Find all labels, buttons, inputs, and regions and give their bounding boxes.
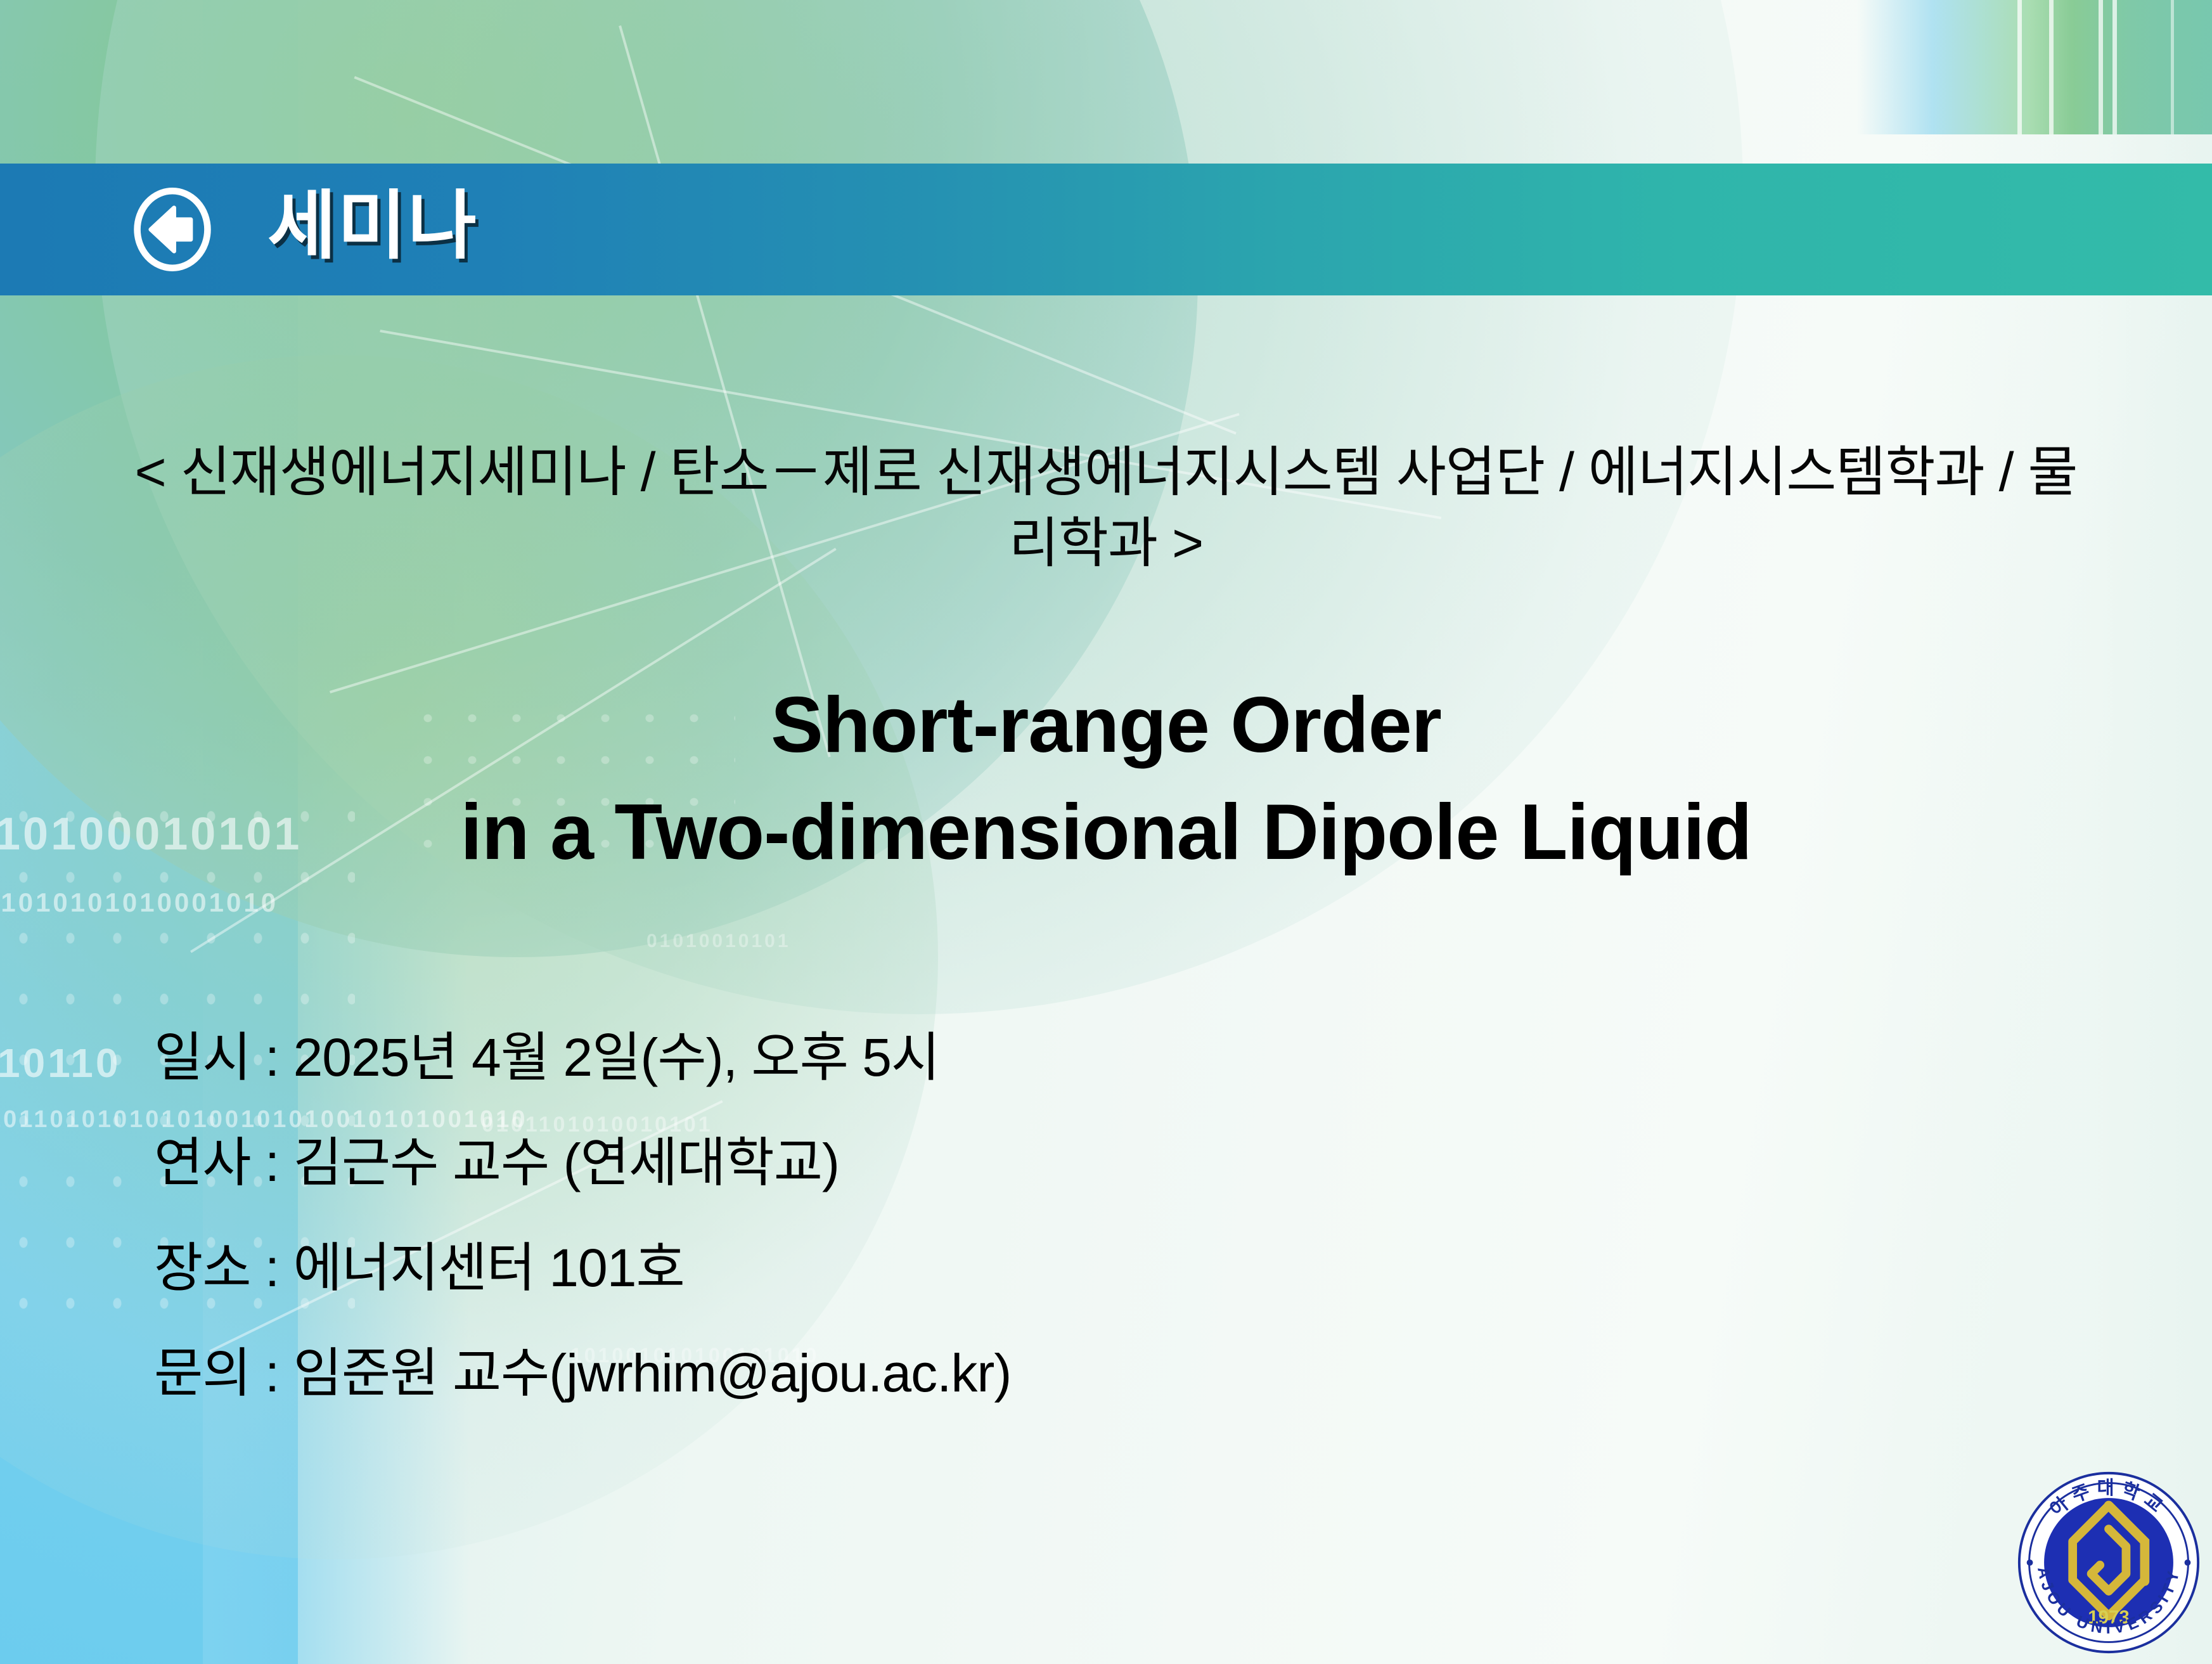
back-arrow-circle-icon[interactable] bbox=[131, 188, 214, 271]
seminar-poster-slide: 10100010101 01010101010001010 10110 1011… bbox=[0, 0, 2212, 1664]
content-area: < 신재생에너지세미나 / 탄소－제로 신재생에너지시스템 사업단 / 에너지시… bbox=[0, 295, 2212, 1664]
detail-line-datetime: 일시 : 2025년 4월 2일(수), 오후 5시 bbox=[154, 1031, 1992, 1084]
background-band-line bbox=[2049, 0, 2054, 134]
seminar-details-list: 일시 : 2025년 4월 2일(수), 오후 5시 연사 : 김근수 교수 (… bbox=[154, 1031, 1992, 1452]
background-right-green-bands bbox=[1857, 0, 2212, 134]
talk-title-line-2: in a Two-dimensional Dipole Liquid bbox=[89, 779, 2123, 886]
header-title: 세미나 bbox=[267, 189, 478, 270]
background-band-line bbox=[2112, 0, 2117, 134]
detail-line-contact: 문의 : 임준원 교수(jwrhim@ajou.ac.kr) bbox=[154, 1346, 1992, 1400]
background-band-line bbox=[2099, 0, 2103, 134]
ajou-university-logo: 1973 아주대학교 AJOU UNIVERSITY bbox=[2016, 1469, 2202, 1656]
talk-title-line-1: Short-range Order bbox=[89, 672, 2123, 779]
detail-line-location: 장소 : 에너지센터 101호 bbox=[154, 1241, 1992, 1294]
background-band-line bbox=[2171, 0, 2174, 134]
header-bar: 세미나 bbox=[0, 164, 2212, 295]
page-title: Short-range Order in a Two-dimensional D… bbox=[0, 672, 2212, 886]
background-band-line bbox=[2017, 0, 2022, 134]
breadcrumb: < 신재생에너지세미나 / 탄소－제로 신재생에너지시스템 사업단 / 에너지시… bbox=[0, 437, 2212, 579]
detail-line-speaker: 연사 : 김근수 교수 (연세대학교) bbox=[154, 1136, 1992, 1189]
